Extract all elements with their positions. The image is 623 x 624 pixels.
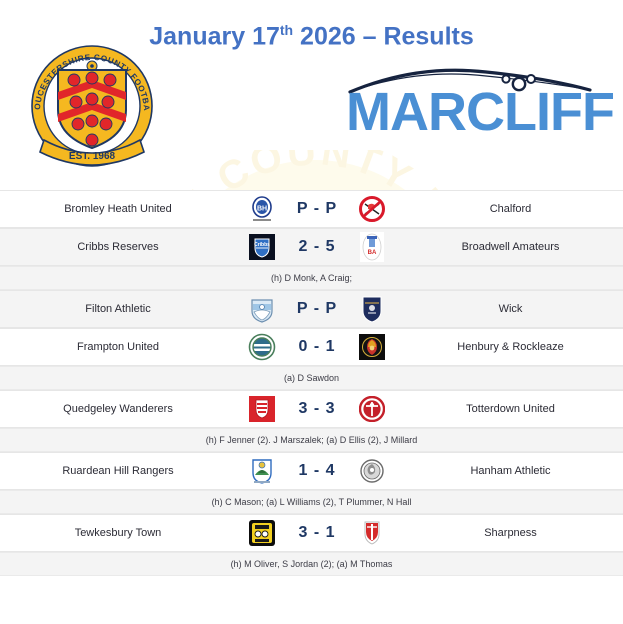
sharpness-badge-icon	[350, 516, 394, 550]
bromley-heath-united-badge-icon: BH	[240, 192, 284, 226]
totterdown-united-badge-icon	[350, 392, 394, 426]
filton-athletic-badge-icon	[240, 292, 284, 326]
match-row[interactable]: Ruardean Hill Rangers 1 - 4 Hanham Athle…	[0, 452, 623, 490]
page-title: January 17th 2026 – Results	[149, 22, 474, 51]
scorers-row: (h) D Monk, A Craig;	[0, 266, 623, 290]
marcliff-wordmark: MARCLIFF	[346, 80, 594, 144]
away-team-name: Chalford	[394, 203, 623, 215]
home-team-name: Cribbs Reserves	[0, 241, 240, 253]
away-team-name: Totterdown United	[394, 403, 623, 415]
scorers-row: (h) M Oliver, S Jordan (2); (a) M Thomas	[0, 552, 623, 576]
tewkesbury-town-badge-icon	[240, 516, 284, 550]
results-list: Bromley Heath United BH P - P ChalfordCr…	[0, 190, 623, 576]
match-score: P - P	[284, 300, 350, 318]
home-team-name: Filton Athletic	[0, 303, 240, 315]
scorers-text: (h) M Oliver, S Jordan (2); (a) M Thomas	[231, 559, 393, 569]
home-team-name: Frampton United	[0, 341, 240, 353]
match-row[interactable]: Quedgeley Wanderers 3 - 3 Totterdown Uni…	[0, 390, 623, 428]
away-team-name: Hanham Athletic	[394, 465, 623, 477]
ruardean-hill-rangers-badge-icon	[240, 454, 284, 488]
scorers-row: (a) D Sawdon	[0, 366, 623, 390]
scorers-row: (h) F Jenner (2). J Marszalek; (a) D Ell…	[0, 428, 623, 452]
away-team-name: Sharpness	[394, 527, 623, 539]
scorers-text: (h) F Jenner (2). J Marszalek; (a) D Ell…	[206, 435, 418, 445]
svg-text:Cribbs: Cribbs	[254, 242, 270, 248]
title-month-day: January 17	[149, 22, 280, 50]
scorers-text: (a) D Sawdon	[284, 373, 339, 383]
away-team-name: Wick	[394, 303, 623, 315]
home-team-name: Bromley Heath United	[0, 203, 240, 215]
chalford-badge-icon	[350, 192, 394, 226]
frampton-united-badge-icon	[240, 330, 284, 364]
match-row[interactable]: Bromley Heath United BH P - P Chalford	[0, 190, 623, 228]
svg-text:BA: BA	[368, 250, 377, 256]
page-header: GLOUCESTERSHIRE COUNTY FOOTBALL LEAGUE	[0, 22, 623, 182]
away-team-name: Broadwell Amateurs	[394, 241, 623, 253]
match-score: 3 - 1	[284, 524, 350, 542]
match-score: 1 - 4	[284, 462, 350, 480]
cribbs-reserves-badge-icon: Cribbs	[240, 230, 284, 264]
henbury-and-rockleaze-badge-icon	[350, 330, 394, 364]
hanham-athletic-badge-icon	[350, 454, 394, 488]
match-score: 0 - 1	[284, 338, 350, 356]
svg-text:BH: BH	[257, 206, 267, 213]
quedgeley-wanderers-badge-icon	[240, 392, 284, 426]
results-title-container: January 17th 2026 – Results	[0, 22, 623, 64]
scorers-text: (h) C Mason; (a) L Williams (2), T Plumm…	[212, 497, 412, 507]
scorers-text: (h) D Monk, A Craig;	[271, 273, 352, 283]
home-team-name: Ruardean Hill Rangers	[0, 465, 240, 477]
home-team-name: Tewkesbury Town	[0, 527, 240, 539]
home-team-name: Quedgeley Wanderers	[0, 403, 240, 415]
match-score: 3 - 3	[284, 400, 350, 418]
marcliff-sponsor-logo: MARCLIFF	[346, 58, 594, 144]
away-team-name: Henbury & Rockleaze	[394, 341, 623, 353]
title-ordinal: th	[280, 22, 293, 38]
title-year-suffix: 2026 – Results	[293, 22, 474, 50]
results-page: GLOUCESTERSHIRE COUNTY FOOTBALL LEAGUE	[0, 0, 623, 624]
match-row[interactable]: Tewkesbury Town 3 - 1 Sharpness	[0, 514, 623, 552]
broadwell-amateurs-badge-icon: BA	[350, 230, 394, 264]
match-row[interactable]: Cribbs Reserves Cribbs 2 - 5 BA Broadwel…	[0, 228, 623, 266]
crest-established-text: EST. 1968	[69, 151, 116, 162]
match-row[interactable]: Frampton United 0 - 1 Henbury & Rockleaz…	[0, 328, 623, 366]
scorers-row: (h) C Mason; (a) L Williams (2), T Plumm…	[0, 490, 623, 514]
match-score: 2 - 5	[284, 238, 350, 256]
match-score: P - P	[284, 200, 350, 218]
wick-badge-icon	[350, 292, 394, 326]
match-row[interactable]: Filton Athletic P - P Wick	[0, 290, 623, 328]
